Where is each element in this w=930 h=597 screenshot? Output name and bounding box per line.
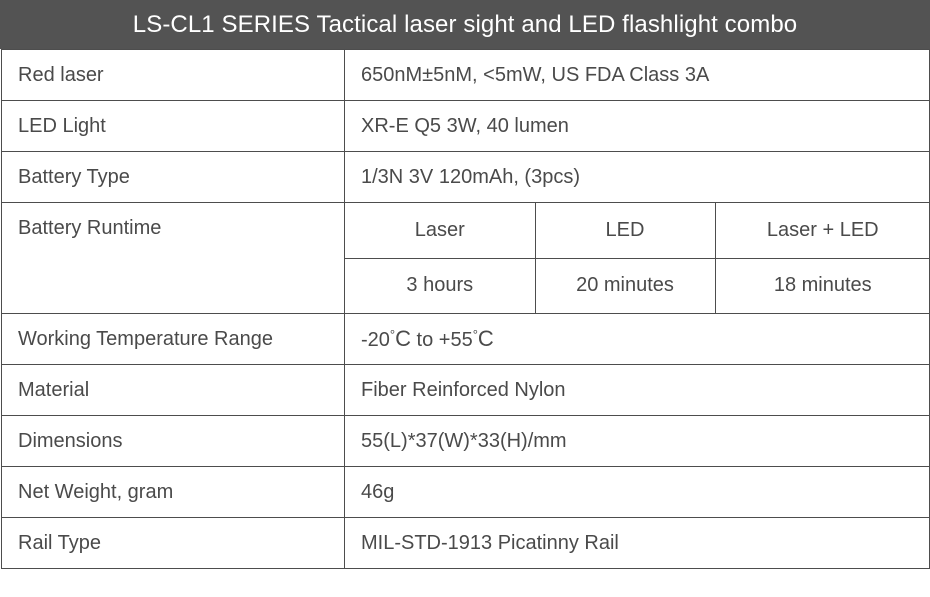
page-title: LS-CL1 SERIES Tactical laser sight and L… — [133, 13, 797, 37]
runtime-value-row: 3 hours 20 minutes 18 minutes — [345, 258, 930, 313]
battery-runtime-subtable: Laser LED Laser + LED 3 hours 20 minutes… — [345, 203, 930, 313]
spec-label-red-laser: Red laser — [2, 50, 345, 101]
temp-min: -20 — [361, 329, 390, 351]
spec-label-net-weight: Net Weight, gram — [2, 467, 345, 518]
table-row: Working Temperature Range -20°C to +55°C — [2, 314, 930, 365]
specification-table: Red laser 650nM±5nM, <5mW, US FDA Class … — [1, 49, 930, 569]
spec-label-battery-type: Battery Type — [2, 152, 345, 203]
spec-value-red-laser: 650nM±5nM, <5mW, US FDA Class 3A — [345, 50, 930, 101]
table-row: Red laser 650nM±5nM, <5mW, US FDA Class … — [2, 50, 930, 101]
runtime-value-laser-led: 18 minutes — [715, 258, 930, 313]
table-row: Dimensions 55(L)*37(W)*33(H)/mm — [2, 416, 930, 467]
runtime-header-laser: Laser — [345, 203, 535, 258]
runtime-header-row: Laser LED Laser + LED — [345, 203, 930, 258]
spec-label-battery-runtime: Battery Runtime — [2, 203, 345, 314]
spec-value-rail-type: MIL-STD-1913 Picatinny Rail — [345, 518, 930, 569]
table-row: Rail Type MIL-STD-1913 Picatinny Rail — [2, 518, 930, 569]
spec-label-dimensions: Dimensions — [2, 416, 345, 467]
table-row: LED Light XR-E Q5 3W, 40 lumen — [2, 101, 930, 152]
runtime-header-led: LED — [535, 203, 715, 258]
table-row-battery-runtime: Battery Runtime Laser LED Laser + LED 3 … — [2, 203, 930, 314]
spec-label-working-temperature: Working Temperature Range — [2, 314, 345, 365]
product-spec-sheet: LS-CL1 SERIES Tactical laser sight and L… — [0, 0, 930, 597]
spec-label-rail-type: Rail Type — [2, 518, 345, 569]
spec-title-bar: LS-CL1 SERIES Tactical laser sight and L… — [0, 0, 930, 49]
spec-label-material: Material — [2, 365, 345, 416]
spec-value-material: Fiber Reinforced Nylon — [345, 365, 930, 416]
spec-value-battery-type: 1/3N 3V 120mAh, (3pcs) — [345, 152, 930, 203]
runtime-header-laser-led: Laser + LED — [715, 203, 930, 258]
spec-label-led-light: LED Light — [2, 101, 345, 152]
celsius-unit-1: C — [395, 326, 411, 351]
table-row: Material Fiber Reinforced Nylon — [2, 365, 930, 416]
table-row: Net Weight, gram 46g — [2, 467, 930, 518]
battery-runtime-subtable-host: Laser LED Laser + LED 3 hours 20 minutes… — [345, 203, 930, 314]
spec-value-working-temperature: -20°C to +55°C — [345, 314, 930, 365]
runtime-value-laser: 3 hours — [345, 258, 535, 313]
spec-value-net-weight: 46g — [345, 467, 930, 518]
temp-separator: to +55 — [411, 329, 473, 351]
celsius-unit-2: C — [478, 326, 494, 351]
table-row: Battery Type 1/3N 3V 120mAh, (3pcs) — [2, 152, 930, 203]
runtime-value-led: 20 minutes — [535, 258, 715, 313]
spec-value-led-light: XR-E Q5 3W, 40 lumen — [345, 101, 930, 152]
spec-value-dimensions: 55(L)*37(W)*33(H)/mm — [345, 416, 930, 467]
